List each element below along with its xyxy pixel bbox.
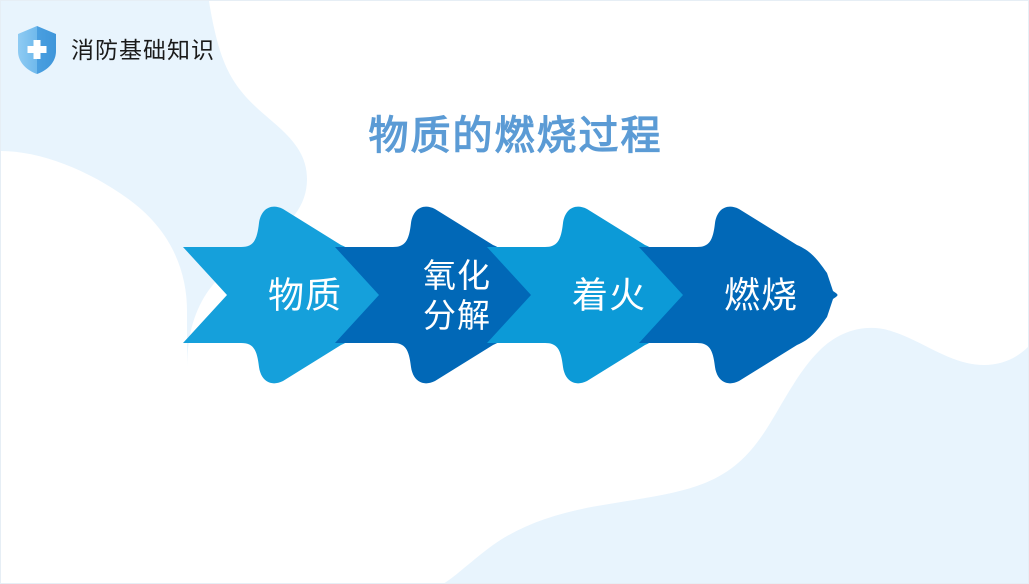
shield-plus-icon (15, 25, 59, 75)
bottom-right-wave-shape (441, 413, 1029, 584)
top-left-wave-cover (1, 151, 187, 584)
page-title: 物质的燃烧过程 (1, 114, 1029, 158)
process-arrow-label-4: 燃烧 (724, 275, 798, 316)
header-title: 消防基础知识 (71, 39, 215, 62)
slide-canvas: 消防基础知识 物质的燃烧过程 物质氧化分解着火燃烧 (0, 0, 1029, 584)
header: 消防基础知识 (15, 25, 215, 75)
process-arrow-label-1: 物质 (268, 275, 342, 316)
process-arrow-chain: 物质氧化分解着火燃烧 (187, 199, 827, 391)
process-arrow-label-3: 着火 (572, 275, 646, 316)
